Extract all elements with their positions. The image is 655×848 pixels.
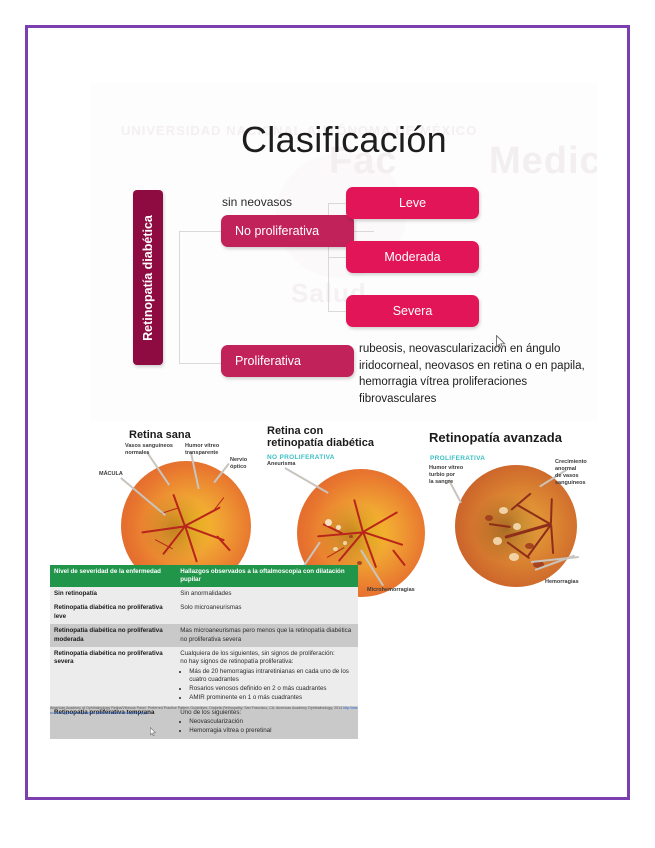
annotation-sin-neovasos: sin neovasos <box>222 195 292 209</box>
connector-np-out <box>354 231 374 232</box>
slide-diagram-area: UNIVERSIDAD NACIONAL AUTÓNOMA DE MÉXICO … <box>91 83 597 421</box>
node-leve[interactable]: Leve <box>346 187 479 219</box>
table-header-hallazgos: Hallazgos observados a la oftalmoscopia … <box>176 565 358 587</box>
table-row: Retinopatía diabética no proliferativa m… <box>50 624 358 647</box>
figure-retinopatia-avanzada-label-1: Crecimiento anormal de vasos sanguíneos <box>555 459 587 487</box>
figure-retinopatia-diabetica-subtitle: NO PROLIFERATIVA <box>267 454 335 461</box>
row-bullets: Neovascularización Hemorragia vítrea o p… <box>189 718 354 735</box>
figure-retinopatia-diabetica-label-0: Aneurisma <box>267 461 295 468</box>
connector-root-trunk <box>179 231 180 363</box>
node-proliferativa-label: Proliferativa <box>221 354 301 368</box>
connector-to-severa <box>328 311 348 312</box>
row-bullets: Más de 20 hemorragias intraretinianas en… <box>189 668 354 702</box>
figure-retina-sana-label-2: Nervio óptico <box>230 457 247 471</box>
citation-text: American Academy of Ophthalmology Retina… <box>50 706 358 717</box>
figure-retinopatia-avanzada-label-0: Humor vítreo turbio por la sangre <box>429 465 463 486</box>
row-level: Sin retinopatía <box>50 587 176 601</box>
row-findings: Cualquiera de los siguientes, sin signos… <box>176 647 358 706</box>
figure-retinopatia-avanzada-subtitle: PROLIFERATIVA <box>430 455 485 462</box>
row-findings: Solo microaneurismas <box>176 601 358 624</box>
row-level-text: Retinopatía diabética no proliferativa s… <box>54 650 163 665</box>
row-findings-text: Cualquiera de los siguientes, sin signos… <box>180 650 354 658</box>
figure-retina-sana-label-3: MÁCULA <box>99 471 123 478</box>
row-bullet: Hemorragia vítrea o preretinal <box>189 727 354 735</box>
row-findings-sub: no hay signos de retinopatía proliferati… <box>180 658 354 666</box>
row-level: Retinopatía diabética no proliferativa m… <box>50 624 176 647</box>
node-moderada[interactable]: Moderada <box>346 241 479 273</box>
leader-line <box>285 467 329 493</box>
row-bullet: Rosarios venosos definido en 2 o más cua… <box>189 685 354 693</box>
page-title: Clasificación <box>91 119 597 161</box>
connector-root-to-prol <box>179 363 221 364</box>
node-retinopatia-diabetica-label: Retinopatía diabética <box>141 215 155 341</box>
figure-retinopatia-avanzada: Retinopatía avanzada PROLIFERATIVA <box>419 421 597 611</box>
node-retinopatia-diabetica[interactable]: Retinopatía diabética <box>133 190 163 365</box>
row-bullet: AMIR prominente en 1 o más cuadrantes <box>189 694 354 702</box>
presentation-frame: UNIVERSIDAD NACIONAL AUTÓNOMA DE MÉXICO … <box>25 25 630 800</box>
figure-retina-sana-label-0: Vasos sanguíneos normales <box>125 443 173 457</box>
connector-to-moderada <box>328 257 348 258</box>
table-row: Retinopatía diabética no proliferativa l… <box>50 601 358 624</box>
node-severa-label: Severa <box>346 304 479 318</box>
row-findings-text: Sin anormalidades <box>180 590 354 598</box>
figure-retina-sana-label-1: Humor vítreo transparente <box>185 443 219 457</box>
table-header-row: Nivel de severidad de la enfermedad Hall… <box>50 565 358 587</box>
figure-retinopatia-avanzada-title: Retinopatía avanzada <box>429 431 562 445</box>
connector-root-to-np <box>179 231 221 232</box>
connector-to-leve <box>328 203 348 204</box>
node-moderada-label: Moderada <box>346 250 479 264</box>
table-row: Retinopatía diabética no proliferativa s… <box>50 647 358 706</box>
figure-retina-sana-title: Retina sana <box>129 429 191 441</box>
mouse-cursor-icon <box>150 727 157 737</box>
row-findings: Sin anormalidades <box>176 587 358 601</box>
row-findings-text: Solo microaneurismas <box>180 604 354 612</box>
row-level: Retinopatía diabética no proliferativa l… <box>50 601 176 624</box>
node-proliferativa[interactable]: Proliferativa <box>221 345 354 377</box>
row-findings: Mas microaneurismas pero menos que la re… <box>176 624 358 647</box>
figure-retinopatia-diabetica-label-2: Microhemorragias <box>367 587 415 594</box>
node-severa[interactable]: Severa <box>346 295 479 327</box>
row-bullet: Neovascularización <box>189 718 354 726</box>
mouse-cursor-icon <box>496 335 507 350</box>
node-leve-label: Leve <box>346 196 479 210</box>
row-level: Retinopatía diabética no proliferativa s… <box>50 647 176 706</box>
table-row: Sin retinopatía Sin anormalidades <box>50 587 358 601</box>
proliferativa-description: rubeosis, neovascularización en ángulo i… <box>359 341 594 408</box>
row-bullet: Más de 20 hemorragias intraretinianas en… <box>189 668 354 685</box>
figure-retinopatia-diabetica-title: Retina con retinopatía diabética <box>267 425 374 449</box>
node-no-proliferativa[interactable]: No proliferativa <box>221 215 354 247</box>
node-no-proliferativa-label: No proliferativa <box>221 224 319 238</box>
row-findings-text: Mas microaneurismas pero menos que la re… <box>180 627 354 644</box>
citation-body: American Academy of Ophthalmology Retina… <box>50 706 343 710</box>
figure-retinopatia-avanzada-label-2: Hemorragias <box>545 579 579 586</box>
table-header-nivel: Nivel de severidad de la enfermedad <box>50 565 176 587</box>
